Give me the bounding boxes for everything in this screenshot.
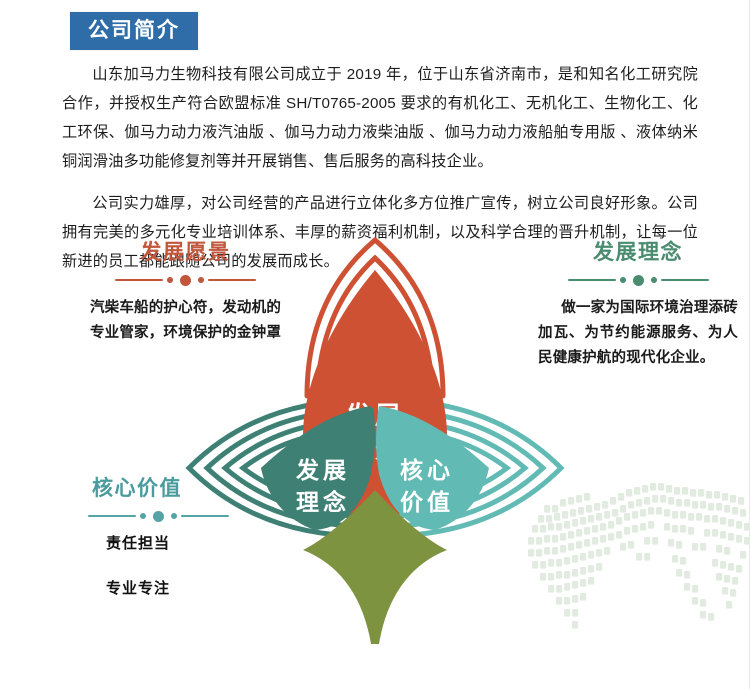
vision-body-text: 汽柴车船的护心符，发动机的专业管家，环境保护的金钟罩 — [88, 296, 283, 346]
divider-rule-right — [661, 279, 709, 281]
vision-block: 发展愿景 汽柴车船的护心符，发动机的专业管家，环境保护的金钟罩 — [88, 240, 283, 346]
section-title-banner: 公司简介 — [70, 12, 198, 50]
divider-dot-large — [180, 275, 191, 286]
vision-divider — [88, 274, 283, 286]
divider-rule-right — [208, 279, 256, 281]
divider-rule-left — [88, 515, 136, 517]
divider-rule-left — [568, 279, 616, 281]
divider-dot-small-left — [167, 277, 173, 283]
philosophy-divider — [538, 274, 738, 286]
divider-dot-large — [153, 511, 164, 522]
divider-dot-small-left — [620, 277, 626, 283]
divider-dot-large — [633, 275, 644, 286]
core-values-heading: 核心价值 — [92, 476, 283, 501]
core-values-block: 核心价值 责任担当 专业专注 — [88, 476, 283, 622]
core-value-item: 专业专注 — [88, 577, 283, 598]
petal-right-label-1: 核心 — [400, 457, 454, 483]
divider-dot-small-right — [198, 277, 204, 283]
core-values-divider — [88, 510, 283, 522]
vision-heading: 发展愿景 — [88, 240, 283, 265]
petal-right-label-2: 价值 — [400, 489, 454, 515]
divider-dot-small-right — [171, 513, 177, 519]
page-root: 公司简介 山东加马力生物科技有限公司成立于 2019 年，位于山东省济南市，是和… — [0, 0, 750, 689]
divider-dot-small-left — [140, 513, 146, 519]
values-infographic: 发展 愿景 发展 理念 核心 价值 发展 — [0, 228, 750, 689]
divider-dot-small-right — [651, 277, 657, 283]
philosophy-block: 发展理念 做一家为国际环境治理添砖加瓦、为节约能源服务、为人民健康护航的现代化企… — [538, 240, 738, 371]
divider-rule-right — [181, 515, 229, 517]
petal-left-label-1: 发展 — [295, 457, 350, 483]
philosophy-body-text: 做一家为国际环境治理添砖加瓦、为节约能源服务、为人民健康护航的现代化企业。 — [538, 296, 738, 371]
divider-rule-left — [115, 279, 163, 281]
petal-left-label-2: 理念 — [296, 489, 350, 515]
intro-paragraph-1: 山东加马力生物科技有限公司成立于 2019 年，位于山东省济南市，是和知名化工研… — [62, 60, 698, 176]
core-value-item: 责任担当 — [88, 532, 283, 553]
philosophy-heading: 发展理念 — [538, 240, 738, 265]
